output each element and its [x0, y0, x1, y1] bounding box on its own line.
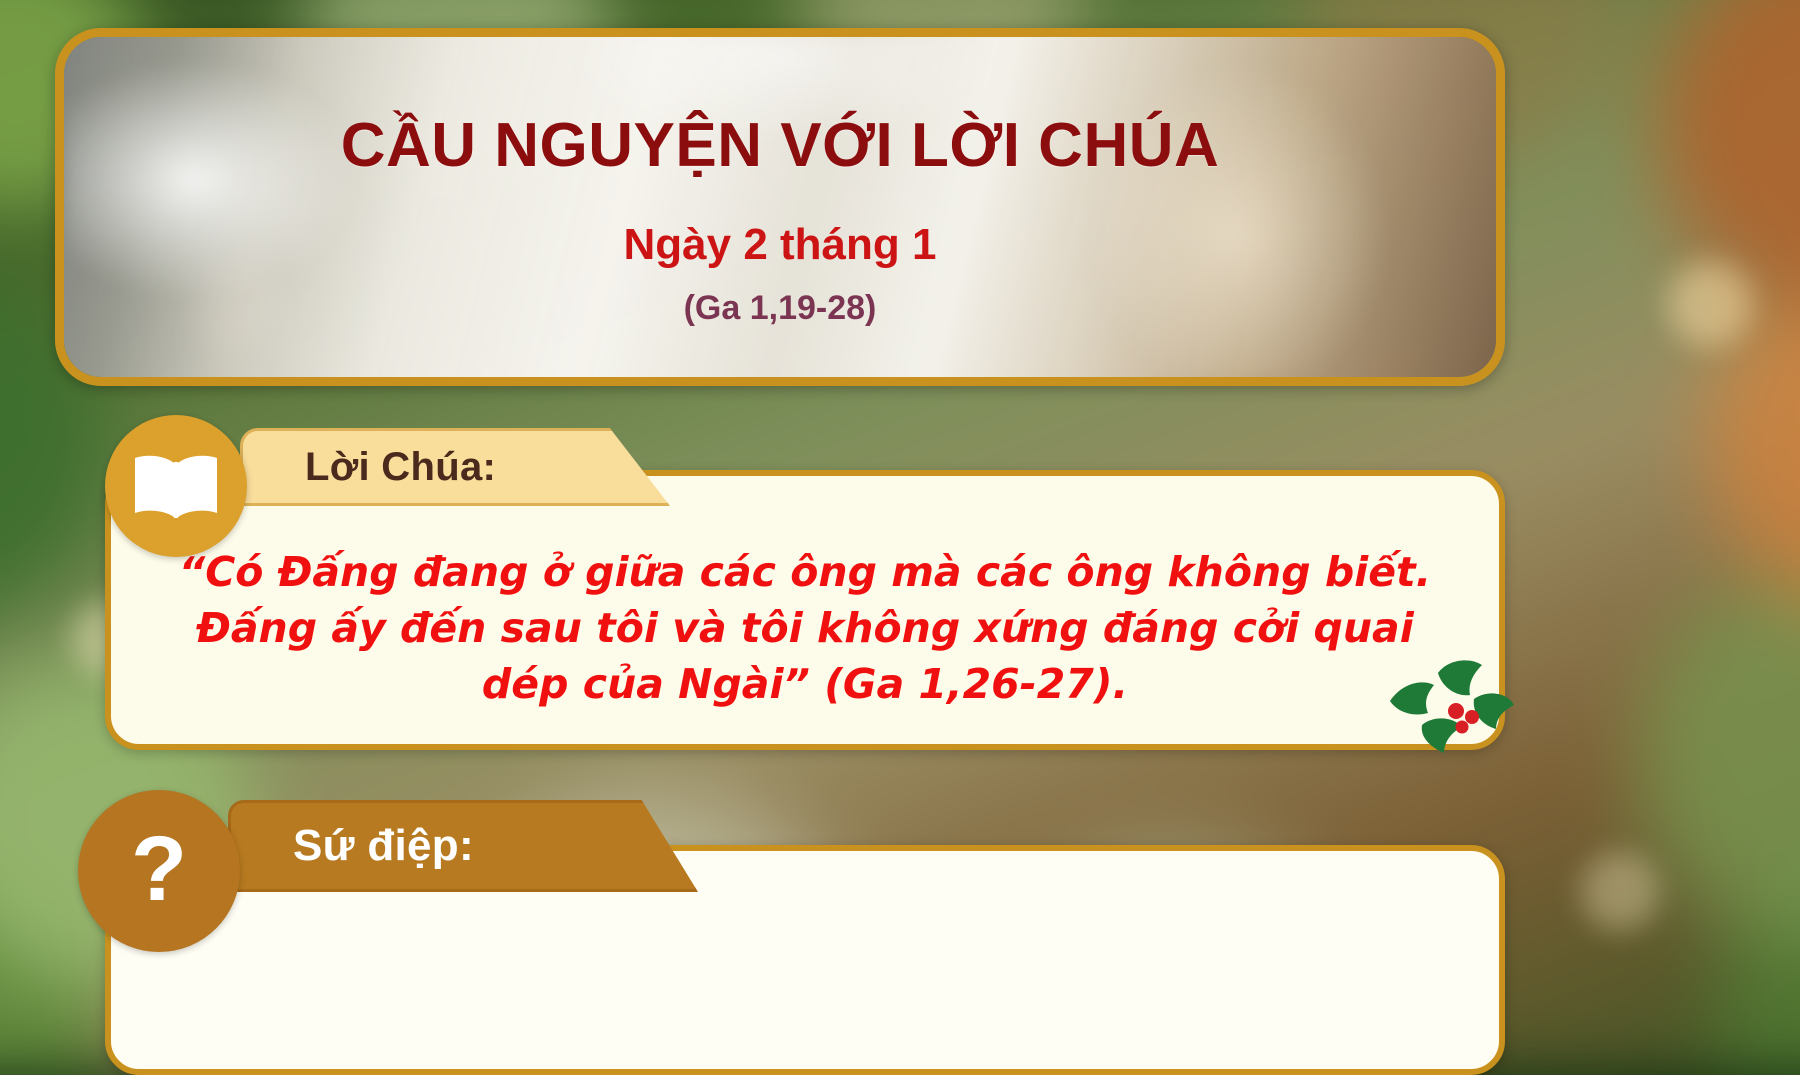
word-of-god-text: “Có Đấng đang ở giữa các ông mà các ông …: [111, 544, 1499, 712]
word-of-god-label: Lời Chúa:: [305, 445, 496, 490]
word-of-god-tab: Lời Chúa:: [240, 428, 670, 506]
word-of-god-badge: [105, 415, 247, 557]
holly-decoration: [1378, 655, 1518, 765]
message-label: Sứ điệp:: [293, 821, 474, 871]
message-tab: Sứ điệp:: [228, 800, 698, 892]
word-of-god-card: “Có Đấng đang ở giữa các ông mà các ông …: [105, 470, 1505, 750]
page-title: CẦU NGUYỆN VỚI LỜI CHÚA: [341, 115, 1220, 177]
question-mark-icon: ?: [131, 823, 187, 915]
open-book-icon: [130, 451, 222, 521]
date-label: Ngày 2 tháng 1: [624, 223, 937, 267]
message-badge: ?: [78, 790, 240, 952]
scripture-reference: (Ga 1,19-28): [684, 291, 877, 325]
header-card: CẦU NGUYỆN VỚI LỜI CHÚA Ngày 2 tháng 1 (…: [55, 28, 1505, 386]
